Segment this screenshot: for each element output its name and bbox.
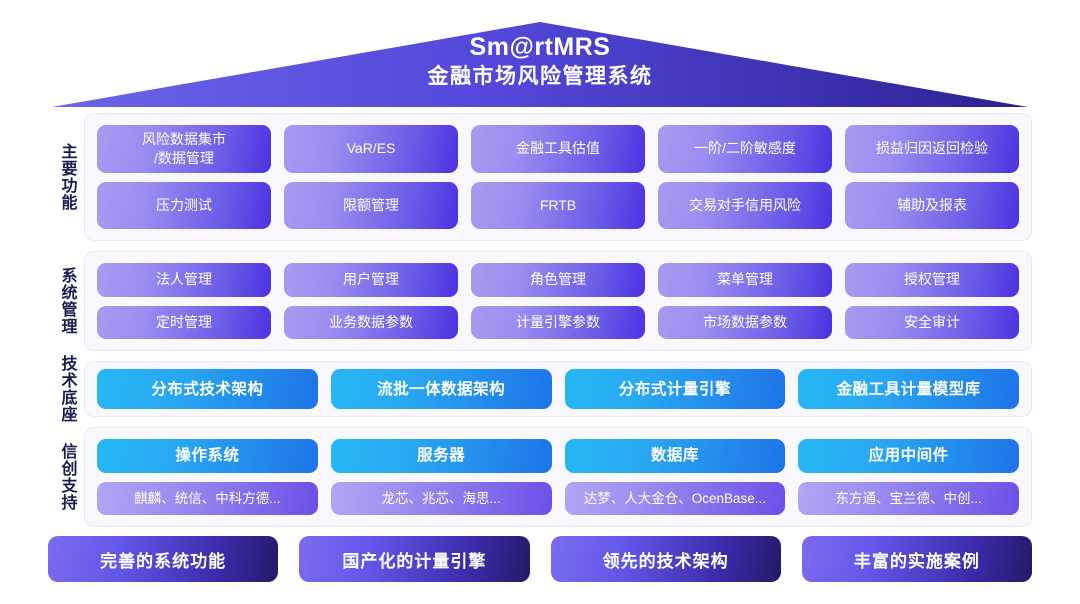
roof-banner: Sm@rtMRS 金融市场风险管理系统 [0,0,1080,112]
xinchuang-category-cell[interactable]: 服务器 [331,439,552,473]
section-system-management: 系统管理 法人管理 用户管理 角色管理 菜单管理 授权管理 定时管理 业务数据参… [50,251,1032,351]
bottom-highlight-strip: 完善的系统功能 国产化的计量引擎 领先的技术架构 丰富的实施案例 [48,536,1032,582]
feature-cell[interactable]: 交易对手信用风险 [658,182,832,230]
section-label-tech-foundation: 技术底座 [50,355,84,423]
section-main-functions: 主要功能 风险数据集市 /数据管理 VaR/ES 金融工具估值 一阶/二阶敏感度… [50,113,1032,241]
feature-cell[interactable]: 市场数据参数 [658,306,832,340]
xinchuang-vendor-cell[interactable]: 东方通、宝兰德、中创... [798,482,1019,516]
row-main-functions-1: 风险数据集市 /数据管理 VaR/ES 金融工具估值 一阶/二阶敏感度 损益归因… [97,125,1019,173]
panel-tech-foundation: 分布式技术架构 流批一体数据架构 分布式计量引擎 金融工具计量模型库 [84,361,1032,417]
infographic-root: Sm@rtMRS 金融市场风险管理系统 主要功能 风险数据集市 /数据管理 Va… [0,0,1080,604]
feature-cell[interactable]: 压力测试 [97,182,271,230]
section-label-system-management: 系统管理 [50,267,84,335]
row-system-management-1: 法人管理 用户管理 角色管理 菜单管理 授权管理 [97,263,1019,297]
xinchuang-vendor-cell[interactable]: 达梦、人大金仓、OcenBase... [565,482,786,516]
xinchuang-category-cell[interactable]: 数据库 [565,439,786,473]
feature-cell[interactable]: 辅助及报表 [845,182,1019,230]
tech-cell[interactable]: 分布式技术架构 [97,369,318,409]
row-tech-foundation-1: 分布式技术架构 流批一体数据架构 分布式计量引擎 金融工具计量模型库 [97,369,1019,409]
highlight-cell[interactable]: 丰富的实施案例 [802,536,1032,582]
panel-main-functions: 风险数据集市 /数据管理 VaR/ES 金融工具估值 一阶/二阶敏感度 损益归因… [84,113,1032,241]
highlight-cell[interactable]: 完善的系统功能 [48,536,278,582]
panel-xinchuang-support: 操作系统 服务器 数据库 应用中间件 麒麟、统信、中科方德... 龙芯、兆芯、海… [84,427,1032,527]
feature-cell[interactable]: 限额管理 [284,182,458,230]
feature-cell[interactable]: 授权管理 [845,263,1019,297]
section-tech-foundation: 技术底座 分布式技术架构 流批一体数据架构 分布式计量引擎 金融工具计量模型库 [50,361,1032,417]
highlight-cell[interactable]: 领先的技术架构 [551,536,781,582]
feature-cell[interactable]: 计量引擎参数 [471,306,645,340]
feature-cell[interactable]: VaR/ES [284,125,458,173]
tech-cell[interactable]: 分布式计量引擎 [565,369,786,409]
xinchuang-category-cell[interactable]: 操作系统 [97,439,318,473]
feature-cell[interactable]: 用户管理 [284,263,458,297]
feature-cell[interactable]: 定时管理 [97,306,271,340]
section-label-main-functions: 主要功能 [50,143,84,211]
row-main-functions-2: 压力测试 限额管理 FRTB 交易对手信用风险 辅助及报表 [97,182,1019,230]
xinchuang-vendor-cell[interactable]: 麒麟、统信、中科方德... [97,482,318,516]
feature-cell[interactable]: 安全审计 [845,306,1019,340]
feature-cell[interactable]: 角色管理 [471,263,645,297]
feature-cell[interactable]: 业务数据参数 [284,306,458,340]
tech-cell[interactable]: 金融工具计量模型库 [798,369,1019,409]
feature-cell[interactable]: 一阶/二阶敏感度 [658,125,832,173]
feature-cell[interactable]: 法人管理 [97,263,271,297]
feature-cell[interactable]: 风险数据集市 /数据管理 [97,125,271,173]
section-label-xinchuang-support: 信创支持 [50,443,84,511]
xinchuang-category-cell[interactable]: 应用中间件 [798,439,1019,473]
xinchuang-vendor-cell[interactable]: 龙芯、兆芯、海思... [331,482,552,516]
panel-system-management: 法人管理 用户管理 角色管理 菜单管理 授权管理 定时管理 业务数据参数 计量引… [84,251,1032,351]
feature-cell[interactable]: 金融工具估值 [471,125,645,173]
feature-cell[interactable]: 菜单管理 [658,263,832,297]
tech-cell[interactable]: 流批一体数据架构 [331,369,552,409]
section-xinchuang-support: 信创支持 操作系统 服务器 数据库 应用中间件 麒麟、统信、中科方德... 龙芯… [50,427,1032,527]
row-system-management-2: 定时管理 业务数据参数 计量引擎参数 市场数据参数 安全审计 [97,306,1019,340]
feature-cell[interactable]: 损益归因返回检验 [845,125,1019,173]
roof-shape-icon [0,0,1080,112]
row-xinchuang-categories: 操作系统 服务器 数据库 应用中间件 [97,439,1019,473]
highlight-cell[interactable]: 国产化的计量引擎 [299,536,529,582]
feature-cell[interactable]: FRTB [471,182,645,230]
row-xinchuang-vendors: 麒麟、统信、中科方德... 龙芯、兆芯、海思... 达梦、人大金仓、OcenBa… [97,482,1019,516]
